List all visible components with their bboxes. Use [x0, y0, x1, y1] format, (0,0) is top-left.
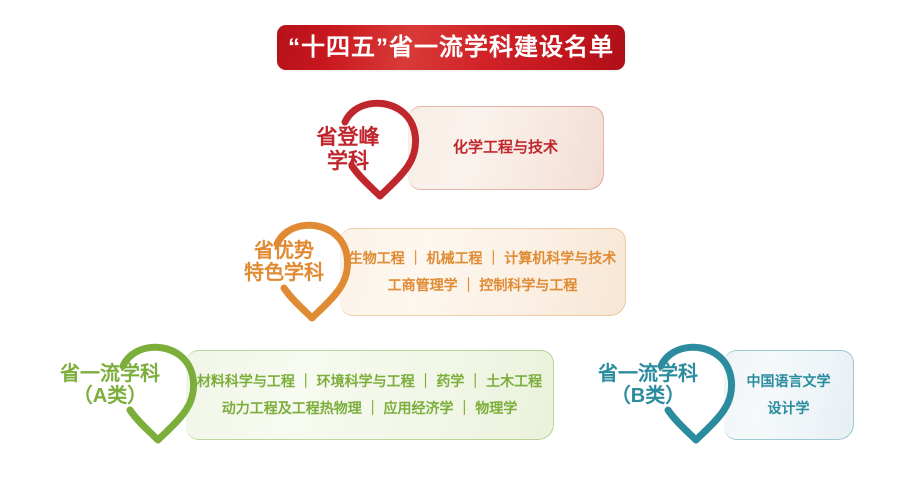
tier-a-class-line-2: 动力工程及工程热物理 ｜ 应用经济学 ｜ 物理学: [222, 401, 518, 416]
tier-a-class-line-1: 材料科学与工程 ｜ 环境科学与工程 ｜ 药学 ｜ 土木工程: [197, 374, 542, 389]
tier-b-class-label: 省一流学科 （B类）: [582, 363, 714, 408]
tier-a-class-label-line1: 省一流学科: [60, 363, 160, 385]
tier-a-class-label-line2: （A类）: [44, 385, 176, 407]
tier-b-class-line-1: 中国语言文学: [747, 374, 831, 389]
tier-peak-panel: 化学工程与技术: [408, 106, 604, 190]
tier-peak-label-line1: 省登峰: [317, 126, 380, 149]
tier-advantage-line-2: 工商管理学 ｜ 控制科学与工程: [388, 278, 578, 293]
tier-advantage-panel: 生物工程 ｜ 机械工程 ｜ 计算机科学与技术 工商管理学 ｜ 控制科学与工程: [340, 228, 626, 316]
tier-a-class-panel: 材料科学与工程 ｜ 环境科学与工程 ｜ 药学 ｜ 土木工程 动力工程及工程热物理…: [186, 350, 554, 440]
tier-peak-label: 省登峰 学科: [300, 126, 396, 173]
tier-b-class-label-line2: （B类）: [582, 385, 714, 407]
tier-a-class-label: 省一流学科 （A类）: [44, 363, 176, 408]
tier-b-class-label-line1: 省一流学科: [598, 363, 698, 385]
tier-b-class-line-2: 设计学: [768, 401, 810, 416]
tier-advantage-label: 省优势 特色学科: [232, 240, 336, 285]
tier-b-class-panel: 中国语言文学 设计学: [724, 350, 854, 440]
page-title-banner: “十四五”省一流学科建设名单: [277, 25, 625, 70]
page-title: “十四五”省一流学科建设名单: [288, 36, 614, 60]
tier-advantage-line-1: 生物工程 ｜ 机械工程 ｜ 计算机科学与技术: [349, 251, 617, 266]
tier-peak-label-line2: 学科: [300, 150, 396, 174]
tier-advantage-label-line2: 特色学科: [232, 262, 336, 284]
infographic-root: “十四五”省一流学科建设名单 化学工程与技术 省登峰 学科 生物工程 ｜ 机械工…: [0, 0, 900, 493]
tier-advantage-label-line1: 省优势: [254, 240, 314, 262]
tier-peak-line-1: 化学工程与技术: [453, 140, 558, 157]
